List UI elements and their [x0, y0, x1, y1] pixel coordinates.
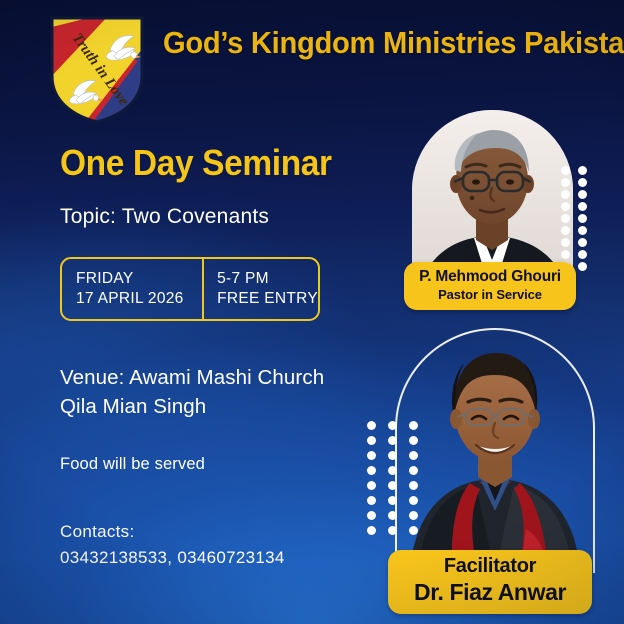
- dot-grid-top-right: [561, 166, 595, 274]
- entry-info: FREE ENTRY: [217, 289, 318, 309]
- contacts-block: Contacts: 03432138533, 03460723134: [60, 519, 285, 570]
- contacts-label: Contacts:: [60, 519, 285, 545]
- date-cell: FRIDAY 17 APRIL 2026: [62, 259, 202, 319]
- organization-title: God’s Kingdom Ministries Pakistan: [163, 26, 580, 60]
- date-day: FRIDAY: [76, 269, 202, 289]
- food-note: Food will be served: [60, 455, 205, 474]
- date-full: 17 APRIL 2026: [76, 289, 202, 309]
- speaker-badge-pastor: P. Mehmood Ghouri Pastor in Service: [404, 262, 576, 310]
- speaker-role-facilitator: Facilitator: [402, 555, 578, 579]
- event-title: One Day Seminar: [60, 142, 332, 184]
- event-details-box: FRIDAY 17 APRIL 2026 5-7 PM FREE ENTRY: [60, 257, 320, 321]
- speaker-badge-facilitator: Facilitator Dr. Fiaz Anwar: [388, 550, 592, 614]
- seminar-poster: Truth in Love God’s Kingdom Ministries P…: [0, 0, 624, 624]
- venue-line-2: Qila Mian Singh: [60, 392, 324, 421]
- speaker-name-facilitator: Dr. Fiaz Anwar: [402, 579, 578, 606]
- speaker-name-pastor: P. Mehmood Ghouri: [418, 268, 562, 287]
- facilitator-portrait-photo: [400, 333, 590, 573]
- contacts-numbers: 03432138533, 03460723134: [60, 545, 285, 571]
- venue-line-1: Venue: Awami Mashi Church: [60, 363, 324, 392]
- time-cell: 5-7 PM FREE ENTRY: [204, 259, 318, 319]
- venue-block: Venue: Awami Mashi Church Qila Mian Sing…: [60, 363, 324, 421]
- church-crest-logo: Truth in Love: [48, 14, 146, 126]
- event-topic: Topic: Two Covenants: [60, 205, 269, 229]
- event-time: 5-7 PM: [217, 269, 318, 289]
- speaker-role-pastor: Pastor in Service: [418, 287, 562, 303]
